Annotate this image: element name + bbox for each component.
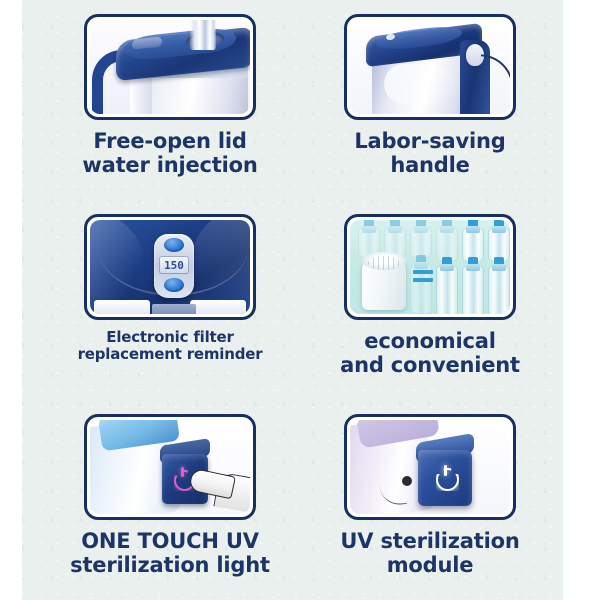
feature-card-labor-saving-handle[interactable] — [344, 14, 516, 120]
caption-line: handle — [354, 153, 505, 177]
feature-card-uv-sterilization-module[interactable] — [344, 414, 516, 520]
caption-line: and convenient — [340, 353, 520, 377]
feature-caption-electronic-filter-reminder: Electronic filter replacement reminder — [78, 329, 263, 364]
image-water-pitcher-lid-pouring — [90, 20, 250, 114]
callout-line-shape — [475, 54, 510, 114]
bottle — [410, 228, 432, 258]
feature-card-free-open-lid[interactable] — [84, 14, 256, 120]
image-uv-module-power-button — [350, 420, 510, 514]
equals-sign-icon — [413, 270, 433, 274]
image-water-pitcher-handle — [350, 20, 510, 114]
bottle — [488, 266, 510, 314]
bottle — [436, 266, 458, 314]
image-filter-cartridge-equals-bottles — [350, 220, 510, 314]
lcd-display: 150 — [159, 256, 189, 274]
feature-grid: Free-open lid water injection Labo — [0, 0, 600, 600]
image-finger-pressing-uv-power-button — [90, 420, 250, 514]
caption-line: water injection — [82, 153, 257, 177]
feature-card-economical-and-convenient[interactable] — [344, 214, 516, 320]
caption-line: Free-open lid — [82, 129, 257, 153]
bottle — [462, 266, 484, 314]
product-feature-poster: Free-open lid water injection Labo — [0, 0, 600, 600]
water-stream-shape — [190, 20, 216, 50]
caption-line: module — [340, 553, 519, 577]
lcd-value: 150 — [164, 260, 184, 271]
caption-line: UV sterilization — [340, 529, 519, 553]
feature-caption-economical-and-convenient: economical and convenient — [340, 329, 520, 378]
pitcher-base-left — [94, 300, 150, 314]
power-icon-bar — [181, 467, 184, 477]
caption-line: ONE TOUCH UV — [70, 529, 270, 553]
feature-cell-one-touch-uv: ONE TOUCH UV sterilization light — [40, 400, 300, 600]
feature-cell-electronic-filter-reminder: 150 Electronic filter replacement remind… — [40, 200, 300, 400]
caption-line: Labor-saving — [354, 129, 505, 153]
filter-cartridge-ribs — [368, 256, 400, 270]
power-icon-bar — [444, 465, 447, 476]
indicator-button-up[interactable] — [164, 238, 184, 252]
pitcher-base-center — [152, 304, 196, 314]
caption-line: Electronic filter — [78, 329, 263, 346]
feature-caption-uv-sterilization-module: UV sterilization module — [340, 529, 519, 578]
pitcher-base-right — [190, 300, 246, 314]
feature-caption-labor-saving-handle: Labor-saving handle — [354, 129, 505, 178]
pitcher-sheen-shape — [384, 64, 454, 104]
feature-cell-labor-saving-handle: Labor-saving handle — [300, 0, 560, 200]
feature-cell-uv-sterilization-module: UV sterilization module — [300, 400, 560, 600]
feature-caption-free-open-lid: Free-open lid water injection — [82, 129, 257, 178]
feature-card-one-touch-uv[interactable] — [84, 414, 256, 520]
feature-cell-free-open-lid: Free-open lid water injection — [40, 0, 300, 200]
feature-cell-economical-and-convenient: economical and convenient — [300, 200, 560, 400]
caption-line: economical — [340, 329, 520, 353]
caption-line: replacement reminder — [78, 346, 263, 363]
image-electronic-filter-indicator-panel: 150 — [90, 220, 250, 314]
feature-card-electronic-filter-reminder[interactable]: 150 — [84, 214, 256, 320]
indicator-button-down[interactable] — [164, 278, 184, 292]
caption-line: sterilization light — [70, 553, 270, 577]
feature-caption-one-touch-uv: ONE TOUCH UV sterilization light — [70, 529, 270, 578]
